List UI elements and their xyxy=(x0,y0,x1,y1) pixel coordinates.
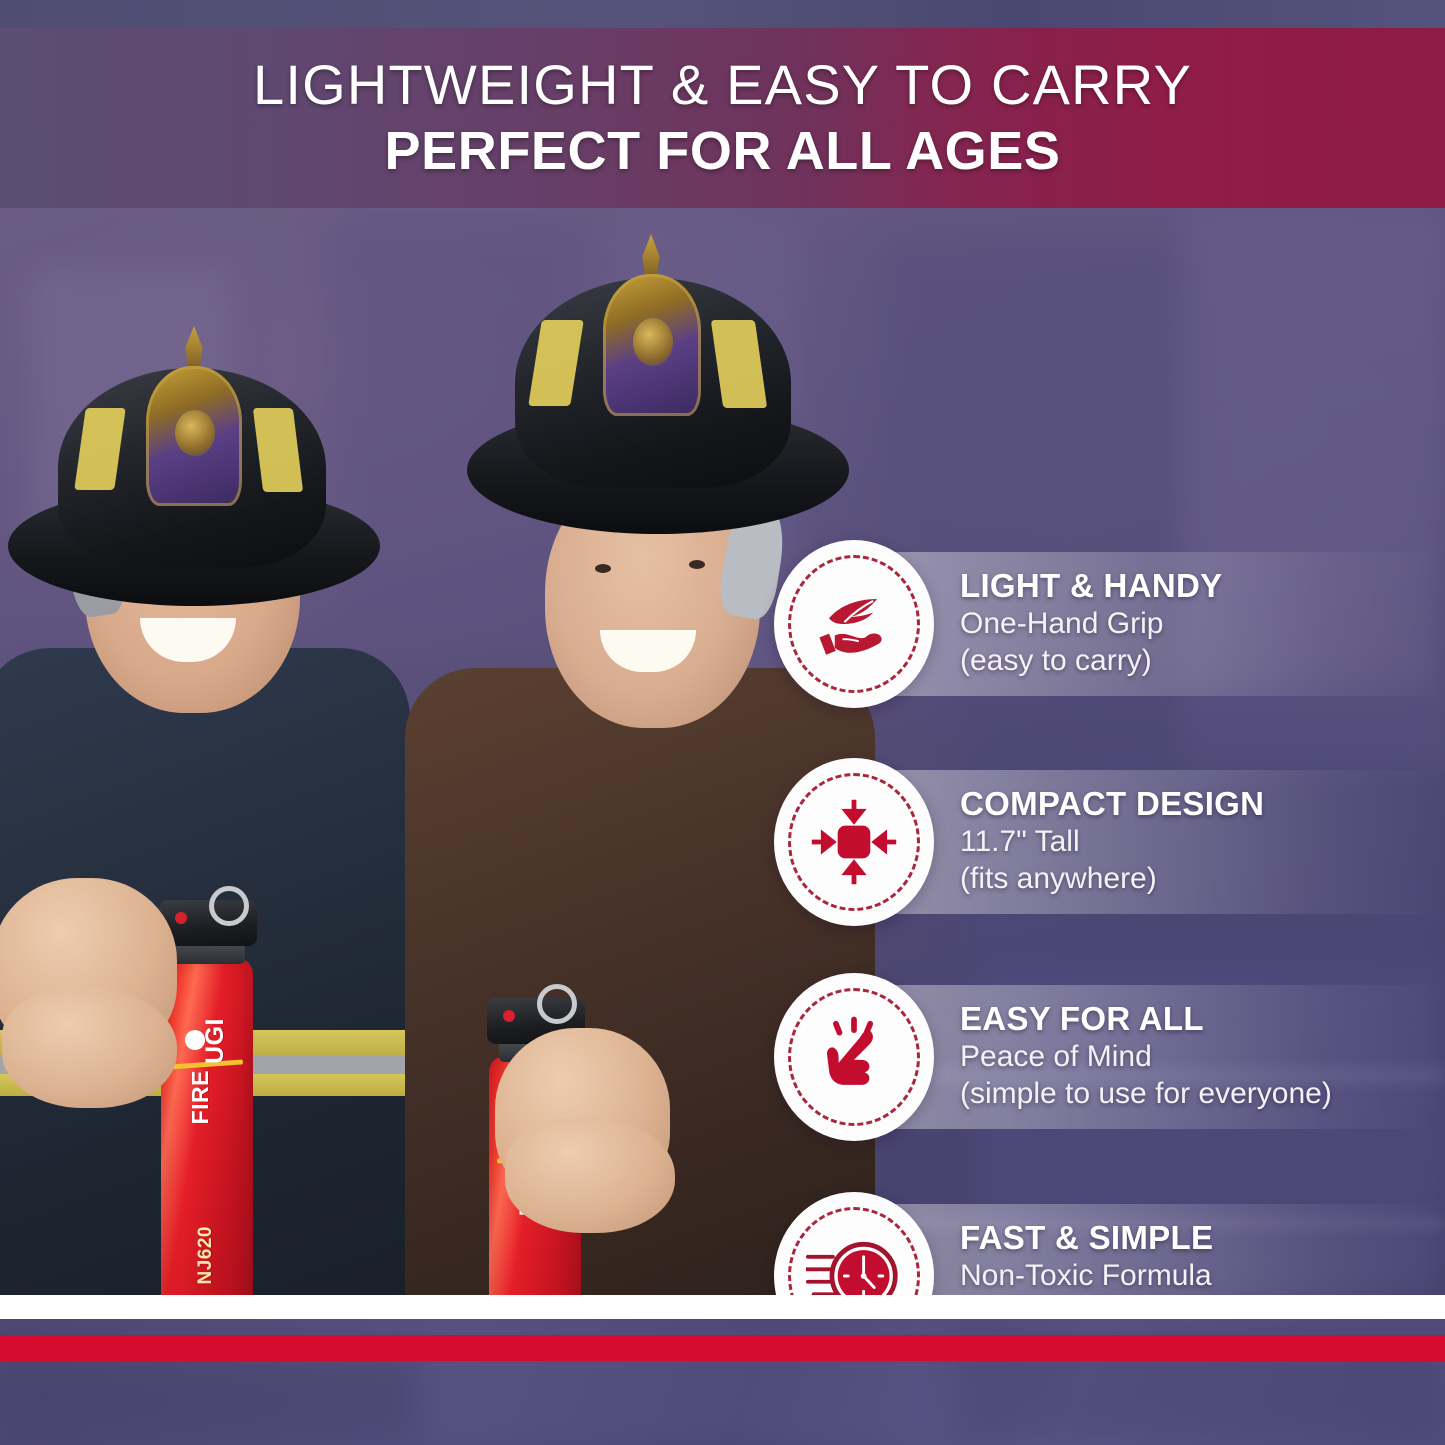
card-text-block: EASY FOR ALL Peace of Mind (simple to us… xyxy=(960,1001,1332,1114)
lifestyle-photo: UGI FIRE NJ620 130 xyxy=(0,208,1445,1295)
hand-holding-feather-icon xyxy=(806,576,902,672)
header-headline-primary: LIGHTWEIGHT & EASY TO CARRY xyxy=(253,56,1192,113)
feature-card-easy-for-all[interactable]: EASY FOR ALL Peace of Mind (simple to us… xyxy=(762,969,1445,1145)
card-text-block: COMPACT DESIGN 11.7" Tall (fits anywhere… xyxy=(960,786,1264,899)
eye xyxy=(595,564,611,573)
feature-badge-circle xyxy=(774,540,934,708)
extinguisher-brand-text: UGI xyxy=(201,1018,230,1064)
helmet-shield-medallion xyxy=(633,318,673,366)
fast-clock-icon xyxy=(806,1228,902,1295)
bottom-white-divider xyxy=(0,1295,1445,1319)
eye xyxy=(689,560,705,569)
feature-card-list: LIGHT & HANDY One-Hand Grip (easy to car… xyxy=(762,416,1445,1295)
bottom-red-accent-bar xyxy=(0,1335,1445,1361)
firefighter-left: UGI FIRE NJ620 130 xyxy=(0,288,420,1295)
card-title: LIGHT & HANDY xyxy=(960,568,1222,605)
pointing-hand-tap-icon xyxy=(806,1009,902,1105)
card-text-block: FAST & SIMPLE Non-Toxic Formula (clean &… xyxy=(960,1220,1213,1295)
card-text-block: LIGHT & HANDY One-Hand Grip (easy to car… xyxy=(960,568,1222,681)
extinguisher-pull-ring xyxy=(209,886,249,926)
extinguisher-indicator-dot xyxy=(503,1010,515,1022)
helmet-shield-medallion xyxy=(175,410,215,456)
extinguisher-indicator-dot xyxy=(175,912,187,924)
extinguisher-body: UGI FIRE NJ620 130 xyxy=(161,958,253,1295)
card-title: COMPACT DESIGN xyxy=(960,786,1264,823)
fingers-left-man xyxy=(2,988,177,1108)
extinguisher-model-text: NJ620 xyxy=(195,1226,217,1285)
card-note: (fits anywhere) xyxy=(960,860,1264,898)
card-subtitle: Non-Toxic Formula xyxy=(960,1257,1213,1295)
extinguisher-fire-text: FIRE xyxy=(187,1070,214,1124)
feature-card-compact-design[interactable]: COMPACT DESIGN 11.7" Tall (fits anywhere… xyxy=(762,754,1445,930)
card-note: (clean & safe) xyxy=(960,1294,1213,1295)
top-accent-strip xyxy=(0,0,1445,28)
header-headline-secondary: PERFECT FOR ALL AGES xyxy=(384,123,1060,180)
fingers-right-man xyxy=(505,1118,675,1233)
card-subtitle: 11.7" Tall xyxy=(960,823,1264,861)
compress-arrows-icon xyxy=(806,794,902,890)
card-title: EASY FOR ALL xyxy=(960,1001,1332,1038)
card-note: (simple to use for everyone) xyxy=(960,1075,1332,1113)
feature-badge-circle xyxy=(774,758,934,926)
card-title: FAST & SIMPLE xyxy=(960,1220,1213,1257)
card-subtitle: One-Hand Grip xyxy=(960,605,1222,643)
extinguisher-pull-ring xyxy=(537,984,577,1024)
feature-badge-circle xyxy=(774,973,934,1141)
feature-card-fast-and-simple[interactable]: FAST & SIMPLE Non-Toxic Formula (clean &… xyxy=(762,1188,1445,1295)
product-feature-infographic: LIGHTWEIGHT & EASY TO CARRY PERFECT FOR … xyxy=(0,0,1445,1445)
bottom-blur-shape xyxy=(0,1359,420,1445)
card-note: (easy to carry) xyxy=(960,642,1222,680)
feature-card-light-and-handy[interactable]: LIGHT & HANDY One-Hand Grip (easy to car… xyxy=(762,536,1445,712)
card-subtitle: Peace of Mind xyxy=(960,1038,1332,1076)
header-banner: LIGHTWEIGHT & EASY TO CARRY PERFECT FOR … xyxy=(0,28,1445,208)
